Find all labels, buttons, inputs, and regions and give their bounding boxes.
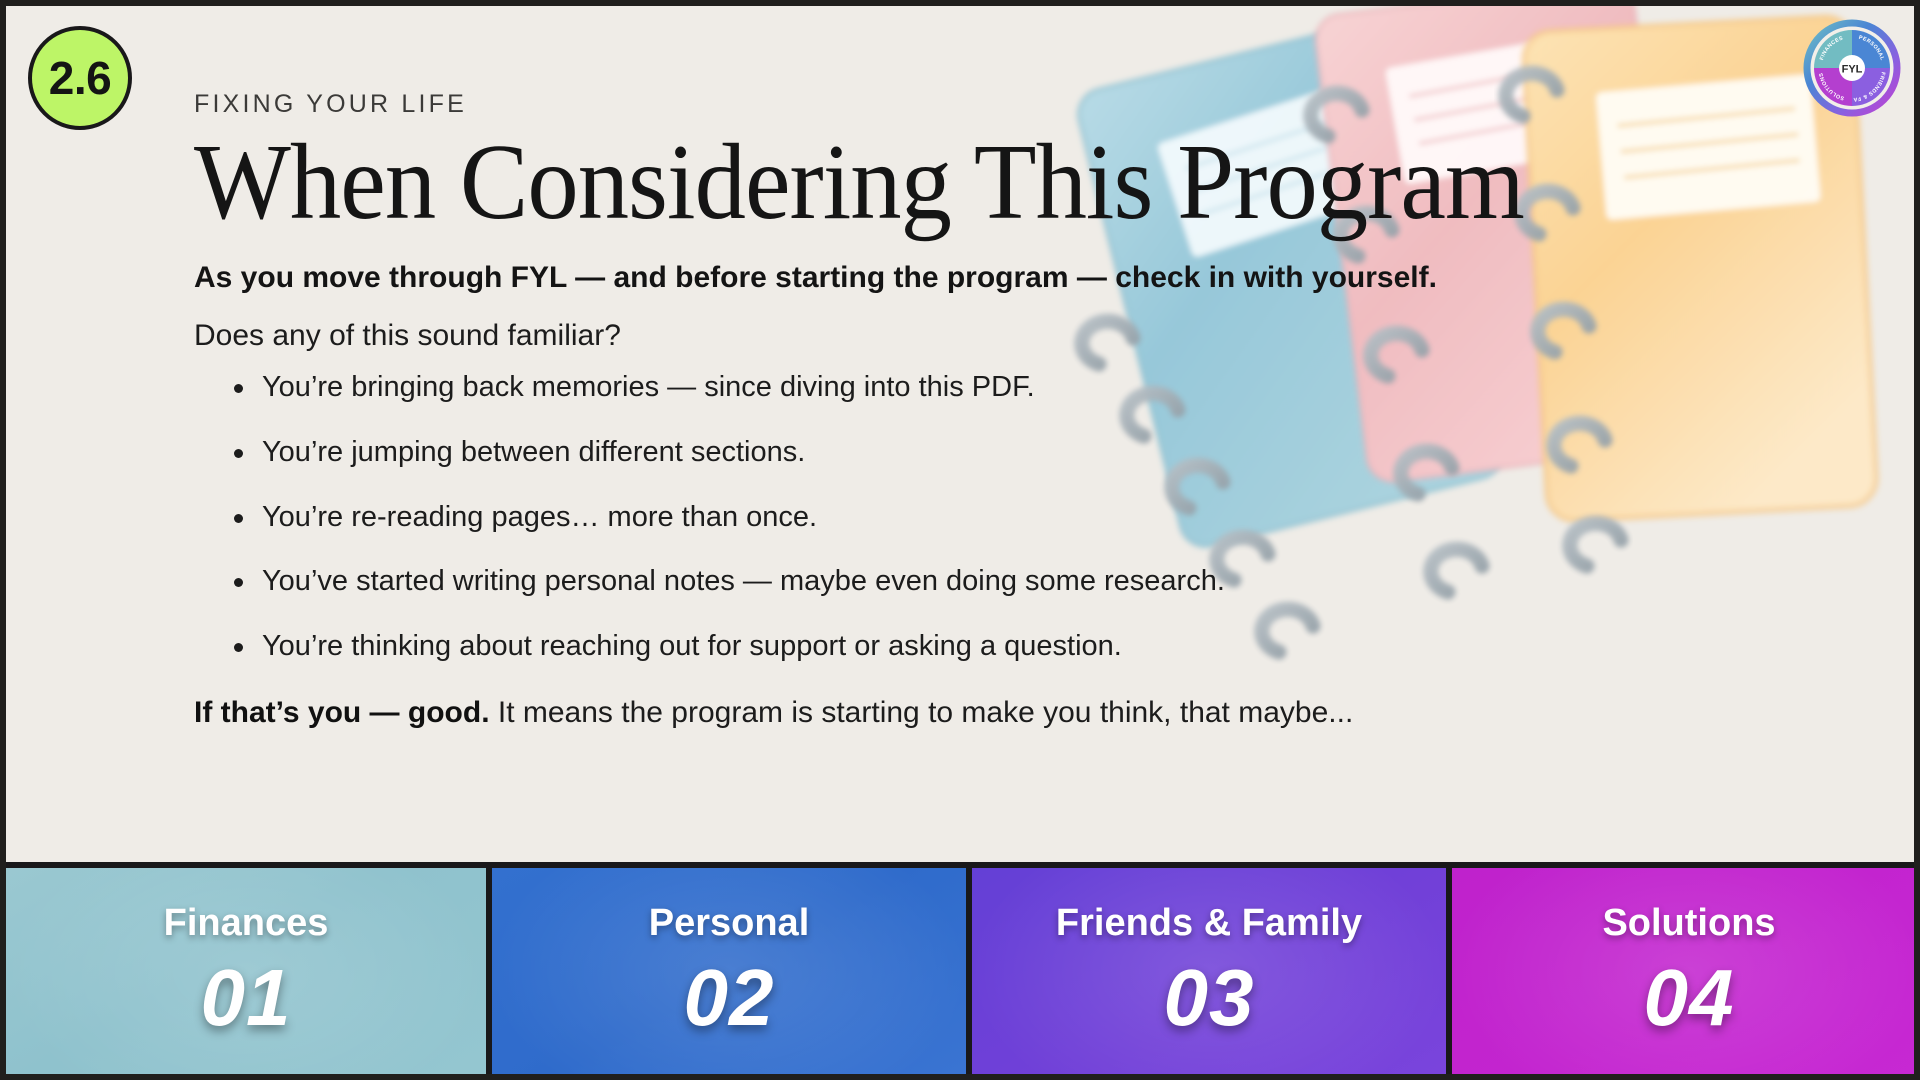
nav-tile-label: Solutions [1602, 904, 1775, 942]
bottom-navigation-bar: Finances 01 Personal 02 Friends & Family… [6, 862, 1920, 1074]
nav-tile-solutions[interactable]: Solutions 04 [1446, 868, 1920, 1074]
lesson-number-text: 2.6 [49, 55, 111, 101]
nav-tile-number: 02 [684, 958, 775, 1038]
list-item: You’re thinking about reaching out for s… [230, 629, 1854, 664]
closing-rest-text: It means the program is starting to make… [490, 696, 1354, 729]
nav-tile-label: Personal [649, 904, 810, 942]
list-item: You’re re-reading pages… more than once. [230, 500, 1854, 535]
nav-tile-number: 01 [201, 958, 292, 1038]
slide-text-block: FIXING YOUR LIFE When Considering This P… [194, 92, 1854, 731]
closing-bold-lead: If that’s you — good. [194, 696, 490, 729]
nav-tile-friends-family[interactable]: Friends & Family 03 [966, 868, 1446, 1074]
checklist-bullets: You’re bringing back memories — since di… [230, 370, 1854, 664]
slide-headline: When Considering This Program [194, 129, 1771, 237]
nav-tile-number: 04 [1644, 958, 1735, 1038]
lesson-number-badge: 2.6 [28, 26, 132, 130]
slide-subline: Does any of this sound familiar? [194, 317, 1854, 355]
nav-tile-finances[interactable]: Finances 01 [6, 868, 486, 1074]
list-item: You’re bringing back memories — since di… [230, 370, 1854, 405]
list-item: You’re jumping between different section… [230, 435, 1854, 470]
nav-tile-number: 03 [1164, 958, 1255, 1038]
slide-canvas: 2.6 [0, 0, 1920, 1080]
slide-closing-paragraph: If that’s you — good. It means the progr… [194, 694, 1854, 732]
nav-tile-label: Friends & Family [1056, 904, 1362, 942]
slide-eyebrow: FIXING YOUR LIFE [194, 92, 1854, 117]
fyl-wheel-logo-icon: FYL FINANCES PERSONAL FRIENDS & FAMILY S… [1802, 18, 1902, 118]
logo-center-text: FYL [1842, 64, 1863, 76]
slide-lead-paragraph: As you move through FYL — and before sta… [194, 259, 1854, 297]
nav-tile-personal[interactable]: Personal 02 [486, 868, 966, 1074]
list-item: You’ve started writing personal notes — … [230, 564, 1854, 599]
nav-tile-label: Finances [164, 904, 329, 942]
slide-content-area: 2.6 [6, 6, 1920, 870]
